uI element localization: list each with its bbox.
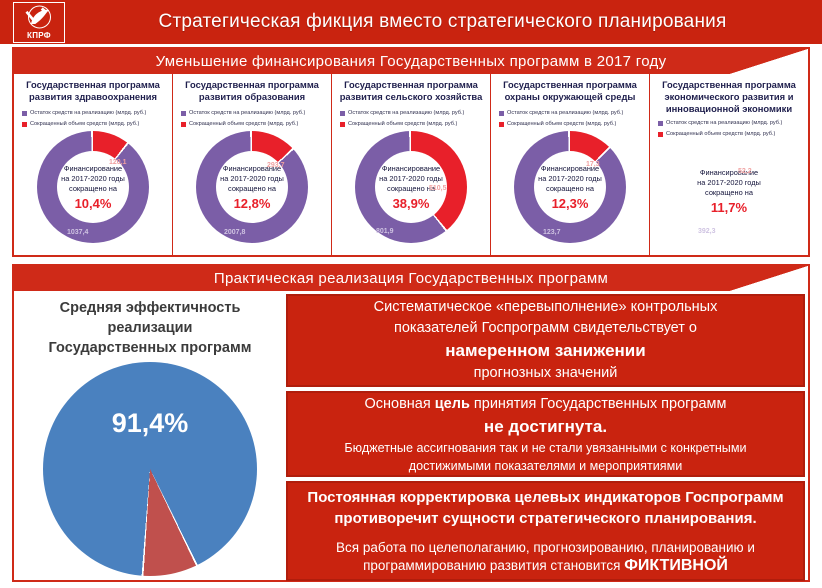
legend-item-remaining: Остаток средств на реализацию (млрд. руб…: [499, 109, 645, 118]
center-line1: Финансирование: [382, 164, 440, 174]
value-label-remaining: 2007,8: [224, 229, 245, 236]
card-title-line1: Государственная программа: [654, 79, 804, 91]
center-line3: сокращено на: [705, 188, 753, 198]
card-title-line2: развития здравоохранения: [18, 91, 168, 103]
legend-label-cut: Сокращенный объем средств (млрд. руб.): [30, 120, 139, 129]
center-line2: на 2017-2020 годы: [697, 178, 761, 188]
legend-item-cut: Сокращенный объем средств (млрд. руб.): [658, 130, 804, 139]
center-line3: сокращено на: [228, 184, 276, 194]
page-title: Стратегическая фикция вместо стратегичес…: [70, 0, 815, 44]
legend-swatch-red: [658, 132, 663, 137]
message3-line1: Постоянная корректировка целевых индикат…: [307, 487, 783, 508]
panel-funding-reduction: Уменьшение финансирования Государственны…: [12, 47, 810, 257]
card-title: Государственная программа развития сельс…: [336, 79, 486, 105]
panel2-banner: Практическая реализация Государственных …: [14, 266, 808, 291]
message2-line1-pre: Основная: [365, 396, 435, 412]
center-percent: 12,3%: [552, 196, 589, 211]
legend-swatch-red: [181, 122, 186, 127]
efficiency-section: Средняя эффектичность реализации Государ…: [14, 291, 286, 582]
message2-line1: Основная цель принятия Государственных п…: [365, 394, 727, 415]
efficiency-title-line2: реализации: [49, 318, 252, 338]
legend-item-cut: Сокращенный объем средств (млрд. руб.): [340, 120, 486, 129]
panel1-banner: Уменьшение финансирования Государственны…: [14, 49, 808, 74]
legend-label-remaining: Остаток средств на реализацию (млрд. руб…: [189, 109, 305, 118]
legend-label-cut: Сокращенный объем средств (млрд. руб.): [348, 120, 457, 129]
chart-card-environment: Государственная программа охраны окружаю…: [491, 74, 650, 255]
chart-legend: Остаток средств на реализацию (млрд. руб…: [22, 109, 168, 129]
panel2-body: Средняя эффектичность реализации Государ…: [14, 291, 808, 582]
message2-line1-emphasis: цель: [435, 396, 470, 412]
legend-label-cut: Сокращенный объем средств (млрд. руб.): [666, 130, 775, 139]
efficiency-pie-chart: 91,4%: [43, 362, 257, 576]
legend-item-remaining: Остаток средств на реализацию (млрд. руб…: [22, 109, 168, 118]
legend-item-remaining: Остаток средств на реализацию (млрд. руб…: [658, 119, 804, 128]
message3-line3: Вся работа по целеполаганию, прогнозиров…: [336, 539, 755, 557]
pie-percent-label: 91,4%: [43, 408, 257, 439]
legend-item-remaining: Остаток средств на реализацию (млрд. руб…: [340, 109, 486, 118]
value-label-cut: 17,3: [586, 161, 600, 168]
center-percent: 12,8%: [234, 196, 271, 211]
banner-corner-notch: [730, 49, 808, 74]
card-title: Государственная программа развития здрав…: [18, 79, 168, 105]
pie-slices: [43, 362, 257, 576]
card-title-line2: развития образования: [177, 91, 327, 103]
donut-ring: Финансирование на 2017-2020 годы сокраще…: [679, 141, 779, 241]
chart-legend: Остаток средств на реализацию (млрд. руб…: [499, 109, 645, 129]
donut-ring: Финансирование на 2017-2020 годы сокраще…: [37, 131, 149, 243]
message3-line4: программированию развития становится ФИК…: [363, 557, 728, 575]
legend-swatch-purple: [181, 111, 186, 116]
donut-ring: Финансирование на 2017-2020 годы сокраще…: [514, 131, 626, 243]
legend-item-cut: Сокращенный объем средств (млрд. руб.): [499, 120, 645, 129]
chart-card-education: Государственная программа развития образ…: [173, 74, 332, 255]
value-label-remaining: 1037,4: [67, 229, 88, 236]
message1-line3-emphasis: намеренном занижении: [445, 339, 645, 363]
chart-card-agriculture: Государственная программа развития сельс…: [332, 74, 491, 255]
center-percent: 38,9%: [393, 196, 430, 211]
donut-chart: Финансирование на 2017-2020 годы сокраще…: [336, 131, 486, 243]
center-line2: на 2017-2020 годы: [61, 174, 125, 184]
value-label-cut: 510,5: [429, 185, 447, 192]
donut-chart: Финансирование на 2017-2020 годы сокраще…: [495, 131, 645, 243]
title-bar: КПРФ Стратегическая фикция вместо страте…: [0, 0, 822, 44]
conclusion-messages: Систематическое «перевыполнение» контрол…: [286, 291, 808, 582]
panel-practical-implementation: Практическая реализация Государственных …: [12, 264, 810, 582]
legend-label-cut: Сокращенный объем средств (млрд. руб.): [507, 120, 616, 129]
legend-label-remaining: Остаток средств на реализацию (млрд. руб…: [507, 109, 623, 118]
chart-card-economy: Государственная программа экономического…: [650, 74, 808, 255]
message3-line2: противоречит сущности стратегического пл…: [334, 508, 756, 529]
value-label-cut: 293,7: [267, 162, 285, 169]
center-line2: на 2017-2020 годы: [220, 174, 284, 184]
legend-label-remaining: Остаток средств на реализацию (млрд. руб…: [666, 119, 782, 128]
message1-line2: показателей Госпрограмм свидетельствует …: [394, 318, 697, 339]
message3-line4-pre: программированию развития становится: [363, 558, 624, 573]
card-title-line3: инновационной экономики: [654, 103, 804, 115]
donut-ring: Финансирование на 2017-2020 годы сокраще…: [355, 131, 467, 243]
message2-line1-post: принятия Государственных программ: [470, 396, 727, 412]
donut-chart: Финансирование на 2017-2020 годы сокраще…: [18, 131, 168, 243]
center-percent: 10,4%: [75, 196, 112, 211]
chart-legend: Остаток средств на реализацию (млрд. руб…: [340, 109, 486, 129]
legend-item-cut: Сокращенный объем средств (млрд. руб.): [181, 120, 327, 129]
legend-swatch-red: [340, 122, 345, 127]
card-title-line2: экономического развития и: [654, 91, 804, 103]
donut-charts-row: Государственная программа развития здрав…: [14, 74, 808, 255]
legend-label-cut: Сокращенный объем средств (млрд. руб.): [189, 120, 298, 129]
legend-swatch-purple: [658, 121, 663, 126]
legend-swatch-purple: [22, 111, 27, 116]
card-title-line1: Государственная программа: [18, 79, 168, 91]
center-line3: сокращено на: [546, 184, 594, 194]
legend-label-remaining: Остаток средств на реализацию (млрд. руб…: [348, 109, 464, 118]
card-title-line2: развития сельского хозяйства: [336, 91, 486, 103]
donut-ring: Финансирование на 2017-2020 годы сокраще…: [196, 131, 308, 243]
legend-swatch-red: [499, 122, 504, 127]
card-title: Государственная программа экономического…: [654, 79, 804, 115]
panel2-banner-text: Практическая реализация Государственных …: [214, 270, 608, 287]
center-percent: 11,7%: [711, 200, 747, 215]
efficiency-title: Средняя эффектичность реализации Государ…: [49, 298, 252, 358]
message-box-2: Основная цель принятия Государственных п…: [286, 391, 805, 477]
card-title: Государственная программа охраны окружаю…: [495, 79, 645, 105]
infographic-poster: КПРФ Стратегическая фикция вместо страте…: [0, 0, 822, 588]
donut-chart: Финансирование на 2017-2020 годы сокраще…: [654, 141, 804, 241]
value-label-cut: 52,2: [738, 168, 752, 175]
value-label-remaining: 392,3: [698, 228, 716, 235]
center-line2: на 2017-2020 годы: [379, 174, 443, 184]
kprf-logo: КПРФ: [13, 2, 65, 43]
efficiency-title-line3: Государственных программ: [49, 338, 252, 358]
legend-label-remaining: Остаток средств на реализацию (млрд. руб…: [30, 109, 146, 118]
legend-item-remaining: Остаток средств на реализацию (млрд. руб…: [181, 109, 327, 118]
message3-line4-emphasis: ФИКТИВНОЙ: [624, 557, 728, 574]
value-label-cut: 120,1: [109, 159, 127, 166]
chart-card-healthcare: Государственная программа развития здрав…: [14, 74, 173, 255]
value-label-remaining: 801,9: [376, 228, 394, 235]
center-line2: на 2017-2020 годы: [538, 174, 602, 184]
card-title-line1: Государственная программа: [177, 79, 327, 91]
legend-item-cut: Сокращенный объем средств (млрд. руб.): [22, 120, 168, 129]
card-title-line1: Государственная программа: [336, 79, 486, 91]
message2-line3: Бюджетные ассигнования так и не стали ув…: [344, 439, 746, 457]
value-label-remaining: 123,7: [543, 229, 561, 236]
message1-line1: Систематическое «перевыполнение» контрол…: [374, 297, 718, 318]
message2-line2-emphasis: не достигнута.: [484, 415, 607, 439]
legend-swatch-red: [22, 122, 27, 127]
message-box-1: Систематическое «перевыполнение» контрол…: [286, 294, 805, 387]
center-line3: сокращено на: [387, 184, 435, 194]
legend-swatch-purple: [499, 111, 504, 116]
efficiency-title-line1: Средняя эффектичность: [49, 298, 252, 318]
chart-legend: Остаток средств на реализацию (млрд. руб…: [658, 119, 804, 139]
card-title-line2: охраны окружающей среды: [495, 91, 645, 103]
panel1-banner-text: Уменьшение финансирования Государственны…: [156, 53, 667, 70]
message1-line4: прогнозных значений: [474, 363, 618, 384]
center-line3: сокращено на: [69, 184, 117, 194]
card-title: Государственная программа развития образ…: [177, 79, 327, 105]
message2-line4: достижимыми показателями и мероприятиями: [409, 457, 683, 475]
legend-swatch-purple: [340, 111, 345, 116]
banner-corner-notch: [730, 266, 808, 291]
chart-legend: Остаток средств на реализацию (млрд. руб…: [181, 109, 327, 129]
logo-label: КПРФ: [27, 31, 51, 40]
donut-chart: Финансирование на 2017-2020 годы сокраще…: [177, 131, 327, 243]
hammer-and-sickle-icon: [24, 5, 55, 31]
message-box-3: Постоянная корректировка целевых индикат…: [286, 481, 805, 581]
card-title-line1: Государственная программа: [495, 79, 645, 91]
